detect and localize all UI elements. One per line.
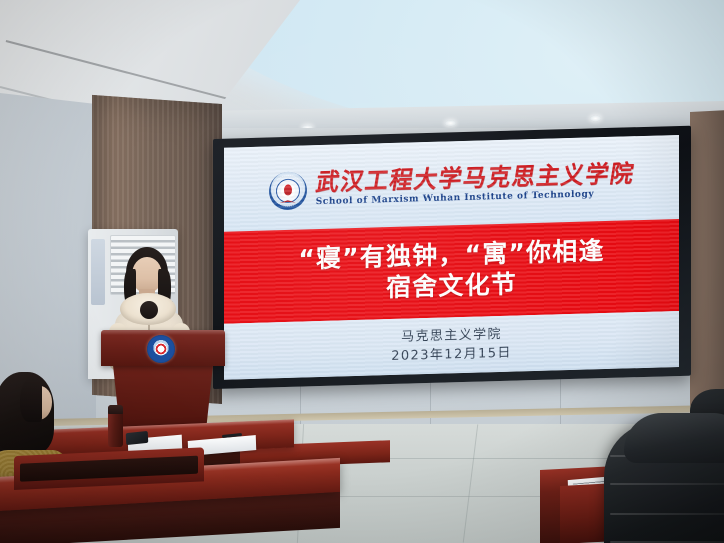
university-name-block: 武汉工程大学马克思主义学院 School of Marxism Wuhan In… bbox=[316, 162, 635, 209]
puffer-quilt-seam bbox=[610, 513, 724, 515]
speaker-fur-collar bbox=[120, 293, 176, 325]
banner-title-line1: “寝”有独钟，“寓”你相逢 bbox=[298, 237, 604, 274]
university-seal-icon bbox=[269, 171, 307, 210]
podium-top bbox=[101, 330, 225, 366]
puffer-quilt-seam bbox=[610, 483, 724, 485]
downlight-icon bbox=[445, 120, 456, 126]
slide-red-banner: “寝”有独钟，“寓”你相逢 宿舍文化节 bbox=[224, 219, 679, 324]
thermos-cap bbox=[108, 405, 123, 414]
floor-grout-line bbox=[463, 424, 478, 542]
attendee-hair-front bbox=[20, 378, 42, 422]
organizer-text: 马克思主义学院 bbox=[401, 326, 502, 346]
downlight-icon bbox=[590, 115, 601, 121]
foreground-attendee-puffer-jacket bbox=[604, 395, 724, 543]
smartphone bbox=[126, 431, 149, 445]
thermos-bottle bbox=[108, 405, 123, 447]
slide-header: 武汉工程大学马克思主义学院 School of Marxism Wuhan In… bbox=[224, 135, 679, 232]
podium-school-seal-icon bbox=[147, 335, 175, 363]
puffer-hood bbox=[624, 413, 724, 463]
presentation-screen: 武汉工程大学马克思主义学院 School of Marxism Wuhan In… bbox=[224, 135, 679, 380]
wood-panel-column-right bbox=[690, 110, 724, 412]
seal-torch-icon bbox=[284, 185, 292, 196]
event-date-text: 2023年12月15日 bbox=[391, 344, 512, 365]
conference-room-photo: 武汉工程大学马克思主义学院 School of Marxism Wuhan In… bbox=[0, 0, 724, 543]
slide-footer: 马克思主义学院 2023年12月15日 bbox=[224, 311, 679, 380]
banner-title-line2: 宿舍文化节 bbox=[386, 271, 517, 303]
led-display-frame: 武汉工程大学马克思主义学院 School of Marxism Wuhan In… bbox=[213, 126, 691, 389]
